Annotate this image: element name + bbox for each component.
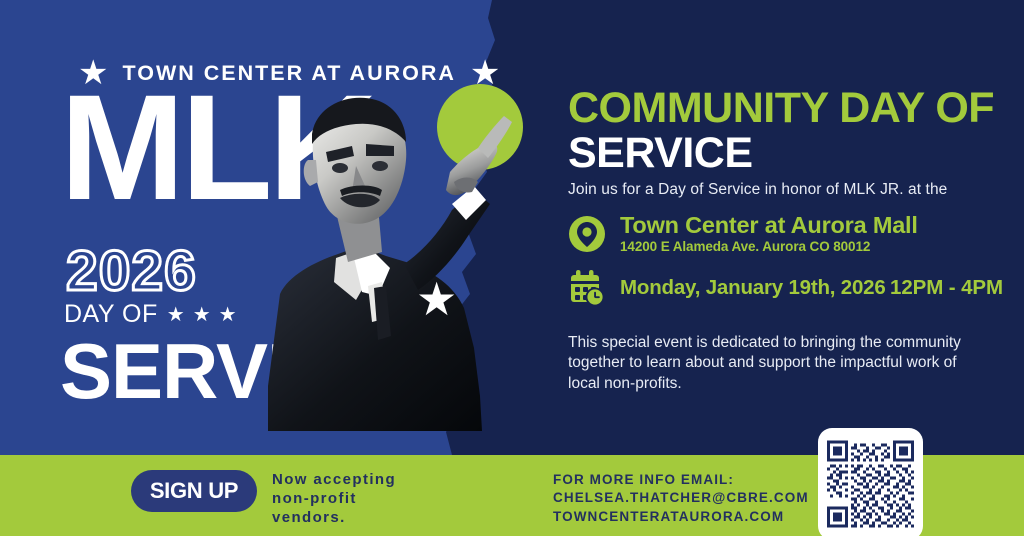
date-row: Monday, January 19th, 2026 12PM - 4PM	[568, 268, 1003, 308]
date-text: Monday, January 19th, 2026 12PM - 4PM	[620, 276, 1003, 301]
headline: COMMUNITY DAY OF SERVICE	[568, 86, 1024, 176]
contact-website[interactable]: TOWNCENTERATAURORA.COM	[553, 508, 809, 526]
location-name: Town Center at Aurora Mall	[620, 212, 918, 238]
vendors-note-line-1: Now accepting	[272, 470, 396, 489]
event-time: 12PM - 4PM	[890, 276, 1003, 299]
day-of-label: DAY OF	[64, 300, 158, 329]
headline-green-text: COMMUNITY DAY OF	[568, 84, 994, 132]
day-of-stars: ★ ★ ★	[167, 305, 237, 325]
subheadline: Join us for a Day of Service in honor of…	[568, 181, 947, 199]
year-text: 2026	[66, 243, 197, 300]
day-of-row: DAY OF ★ ★ ★	[64, 300, 237, 329]
event-description: This special event is dedicated to bring…	[568, 333, 968, 394]
mlk-day-of-service-flyer: ★ TOWN CENTER AT AURORA ★ MLK 2026 DAY O…	[0, 0, 1024, 536]
calendar-clock-icon	[568, 268, 606, 308]
right-info-column: COMMUNITY DAY OF SERVICE Join us for a D…	[560, 0, 1024, 455]
location-row: Town Center at Aurora Mall 14200 E Alame…	[568, 212, 1024, 256]
contact-block: FOR MORE INFO EMAIL: CHELSEA.THATCHER@CB…	[553, 471, 809, 526]
sign-up-button[interactable]: SIGN UP	[131, 470, 257, 512]
vendors-note: Now accepting non-profit vendors.	[272, 470, 396, 528]
location-address: 14200 E Alameda Ave. Aurora CO 80012	[620, 239, 870, 254]
vendors-note-line-3: vendors.	[272, 508, 396, 527]
star-icon-2: ★	[193, 305, 211, 325]
star-icon-figure-accent: ★	[416, 276, 457, 322]
contact-email[interactable]: CHELSEA.THATCHER@CBRE.COM	[553, 489, 809, 507]
event-date: Monday, January 19th, 2026	[620, 276, 886, 299]
map-pin-icon	[568, 214, 606, 254]
qr-code-card[interactable]	[818, 428, 923, 536]
vendors-note-line-2: non-profit	[272, 489, 396, 508]
contact-label: FOR MORE INFO EMAIL:	[553, 471, 809, 489]
qr-code-icon	[827, 437, 914, 531]
star-icon-1: ★	[167, 305, 185, 325]
mlk-portrait-image	[228, 86, 528, 431]
location-text: Town Center at Aurora Mall 14200 E Alame…	[620, 212, 1024, 256]
headline-white-text: SERVICE	[568, 129, 753, 177]
